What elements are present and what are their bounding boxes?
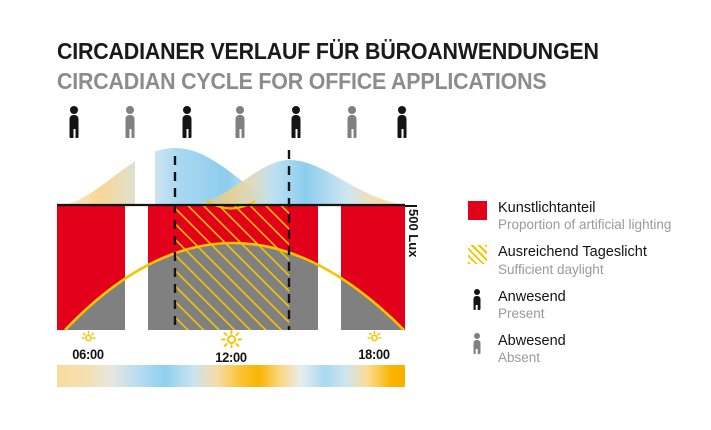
legend-label-en: Present <box>498 306 703 322</box>
yellow-hatch-swatch-icon <box>468 245 487 264</box>
hatch-region <box>253 205 289 330</box>
strip-svg <box>57 365 405 387</box>
person-black-icon <box>471 289 482 310</box>
sufficient-daylight-hatch <box>175 205 289 330</box>
time-label: 06:00 <box>59 346 116 362</box>
time-tick-0600: 06:00 <box>57 330 119 362</box>
legend-label-en: Proportion of artificial lighting <box>498 217 703 233</box>
circadian-chart <box>57 138 405 330</box>
person-figure-absent <box>233 106 247 138</box>
legend-item-absent: Abwesend Absent <box>468 333 703 366</box>
person-figure-present <box>180 106 194 138</box>
legend-label-de: Kunstlichtanteil <box>498 200 703 217</box>
legend-label-de: Anwesend <box>498 289 703 306</box>
strip-fill <box>57 365 405 387</box>
time-label: 18:00 <box>345 346 402 362</box>
time-label: 12:00 <box>202 349 259 365</box>
red-square-swatch-icon <box>468 201 487 220</box>
hatch-region <box>175 205 225 330</box>
page-title-en: CIRCADIAN CYCLE FOR OFFICE APPLICATIONS <box>57 68 546 95</box>
bell-notch-morning <box>135 138 155 205</box>
legend-label-en: Sufficient daylight <box>498 262 703 278</box>
person-body-icon <box>70 115 79 138</box>
sun-small-icon <box>366 330 383 345</box>
occupancy-row <box>57 106 405 138</box>
person-head-icon <box>292 106 300 114</box>
legend-label-de: Abwesend <box>498 333 703 350</box>
sun-large-icon <box>221 330 242 348</box>
person-body-icon <box>183 115 192 138</box>
time-tick-1800: 18:00 <box>343 330 405 362</box>
person-head-icon <box>70 106 78 114</box>
person-head-icon <box>236 106 244 114</box>
colour-temperature-curves <box>57 138 405 205</box>
legend: Kunstlichtanteil Proportion of artificia… <box>468 200 703 377</box>
person-body-icon <box>398 115 407 138</box>
person-head-icon <box>398 106 406 114</box>
legend-label-de: Ausreichend Tageslicht <box>498 244 703 261</box>
lux-tick-mark <box>405 205 417 207</box>
person-body-icon <box>292 115 301 138</box>
colour-temperature-strip <box>57 365 405 387</box>
person-body-icon <box>126 115 135 138</box>
chart-svg <box>57 138 405 330</box>
time-tick-1200: 12:00 <box>200 330 262 365</box>
person-gray-icon <box>471 333 482 354</box>
person-figure-absent <box>345 106 359 138</box>
legend-item-artificial-light: Kunstlichtanteil Proportion of artificia… <box>468 200 703 233</box>
time-axis: 06:00 12:00 <box>57 330 405 358</box>
person-body-icon <box>236 115 245 138</box>
person-head-icon <box>126 106 134 114</box>
hatch-region <box>225 205 253 330</box>
sun-small-icon <box>80 330 97 345</box>
lux-axis-label: 500 Lux <box>406 209 421 257</box>
legend-item-sufficient-daylight: Ausreichend Tageslicht Sufficient daylig… <box>468 244 703 277</box>
person-figure-present <box>67 106 81 138</box>
person-head-icon <box>348 106 356 114</box>
person-body-icon <box>348 115 357 138</box>
person-figure-absent <box>123 106 137 138</box>
page-title-de: CIRCADIANER VERLAUF FÜR BÜROANWENDUNGEN <box>57 38 599 65</box>
person-figure-present <box>289 106 303 138</box>
person-figure-present <box>395 106 409 138</box>
infographic-root: CIRCADIANER VERLAUF FÜR BÜROANWENDUNGEN … <box>0 0 711 430</box>
person-head-icon <box>183 106 191 114</box>
legend-item-present: Anwesend Present <box>468 289 703 322</box>
legend-label-en: Absent <box>498 350 703 366</box>
